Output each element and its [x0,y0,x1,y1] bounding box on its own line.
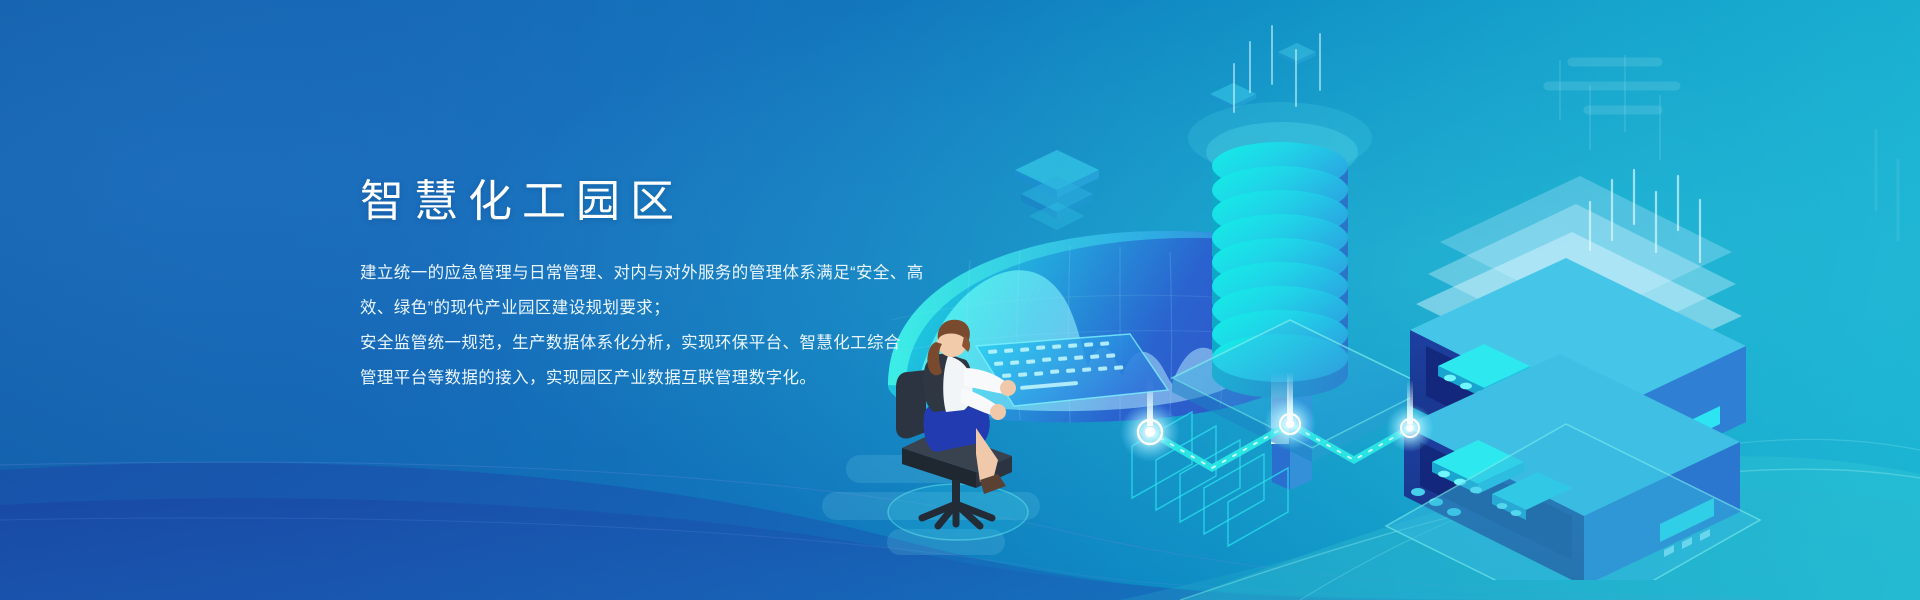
description-line-2: 效、绿色”的现代产业园区建设规划要求； [360,291,1060,326]
hero-banner: 智慧化工园区 建立统一的应急管理与日常管理、对内与对外服务的管理体系满足“安全、… [0,0,1920,600]
server-rack-stack [1386,170,1760,580]
description-line-1: 建立统一的应急管理与日常管理、对内与对外服务的管理体系满足“安全、高 [360,256,1060,291]
description-line-4: 管理平台等数据的接入，实现园区产业数据互联管理数字化。 [360,361,1060,396]
page-title: 智慧化工园区 [360,178,1060,226]
hero-copy: 智慧化工园区 建立统一的应急管理与日常管理、对内与对外服务的管理体系满足“安全、… [360,178,1060,396]
description-line-3: 安全监管统一规范，生产数据体系化分析，实现环保平台、智慧化工综合 [360,326,1060,361]
